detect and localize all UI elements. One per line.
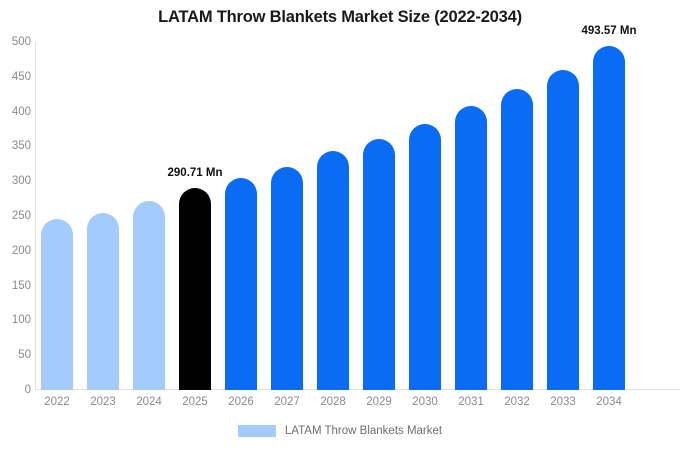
chart-container: LATAM Throw Blankets Market Size (2022-2… bbox=[0, 0, 680, 450]
y-axis-tick-100: 100 bbox=[1, 314, 31, 326]
bar-2028[interactable] bbox=[317, 151, 349, 390]
x-axis-tick-2022: 2022 bbox=[41, 396, 73, 408]
bar-2033[interactable] bbox=[547, 70, 579, 390]
legend-item-label: LATAM Throw Blankets Market bbox=[285, 425, 442, 437]
y-axis-tick-450: 450 bbox=[1, 71, 31, 83]
y-axis-tick-150: 150 bbox=[1, 280, 31, 292]
bar-2025[interactable] bbox=[179, 188, 211, 390]
bar-2030[interactable] bbox=[409, 124, 441, 390]
y-axis-tick-300: 300 bbox=[1, 175, 31, 187]
chart-legend: LATAM Throw Blankets Market bbox=[0, 425, 680, 437]
bar-2023[interactable] bbox=[87, 213, 119, 390]
bar-2032[interactable] bbox=[501, 89, 533, 390]
y-axis-tick-250: 250 bbox=[1, 210, 31, 222]
bar-2029[interactable] bbox=[363, 139, 395, 390]
y-axis-tick-50: 50 bbox=[1, 349, 31, 361]
y-axis-tick-500: 500 bbox=[1, 36, 31, 48]
y-axis-tick-0: 0 bbox=[1, 384, 31, 396]
y-axis-tick-200: 200 bbox=[1, 245, 31, 257]
bar-2022[interactable] bbox=[41, 219, 73, 390]
bar-2031[interactable] bbox=[455, 106, 487, 390]
x-axis-tick-2025: 2025 bbox=[179, 396, 211, 408]
x-axis-tick-2029: 2029 bbox=[363, 396, 395, 408]
x-axis-tick-2034: 2034 bbox=[593, 396, 625, 408]
bar-value-label-2025: 290.71 Mn bbox=[168, 167, 223, 179]
chart-title: LATAM Throw Blankets Market Size (2022-2… bbox=[0, 8, 680, 27]
bar-2034[interactable] bbox=[593, 46, 625, 390]
x-axis-tick-2024: 2024 bbox=[133, 396, 165, 408]
y-axis-tick-labels: 050100150200250300350400450500 bbox=[0, 0, 31, 450]
x-axis-tick-2026: 2026 bbox=[225, 396, 257, 408]
x-axis-tick-2027: 2027 bbox=[271, 396, 303, 408]
legend-color-swatch bbox=[238, 425, 276, 437]
x-axis-tick-2033: 2033 bbox=[547, 396, 579, 408]
bar-2024[interactable] bbox=[133, 201, 165, 390]
x-axis-tick-2032: 2032 bbox=[501, 396, 533, 408]
bar-2027[interactable] bbox=[271, 167, 303, 390]
y-axis-tick-350: 350 bbox=[1, 140, 31, 152]
bar-value-label-2034: 493.57 Mn bbox=[582, 25, 637, 37]
x-axis-tick-2028: 2028 bbox=[317, 396, 349, 408]
x-axis-tick-2030: 2030 bbox=[409, 396, 441, 408]
y-axis-tick-400: 400 bbox=[1, 106, 31, 118]
x-axis-tick-2023: 2023 bbox=[87, 396, 119, 408]
bar-2026[interactable] bbox=[225, 178, 257, 390]
plot-area bbox=[35, 42, 680, 390]
x-axis-tick-2031: 2031 bbox=[455, 396, 487, 408]
